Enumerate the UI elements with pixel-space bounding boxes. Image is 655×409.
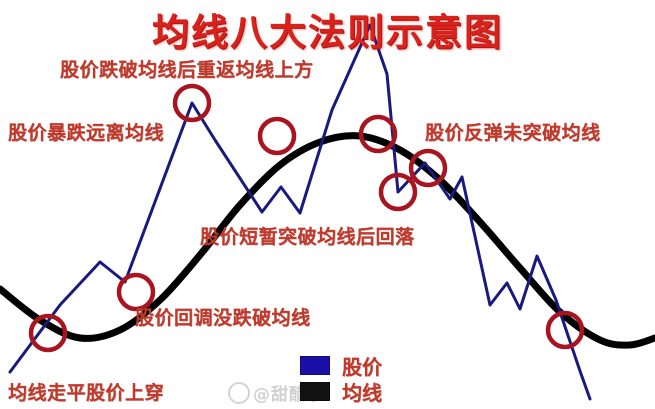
black-square-icon [300, 382, 330, 401]
legend-item-price: 股价 [300, 352, 382, 378]
annotation-crash-far-from-ma: 股价暴跌远离均线 [8, 118, 164, 145]
cross-marker-circle: 股价短暂突破均线后回落 [260, 119, 294, 153]
legend-label-ma: 均线 [342, 377, 382, 406]
diagram-canvas: 均线走平股价上穿股价回调没跌破均线股价跌破均线后重返均线上方股价短暂突破均线后回… [0, 0, 655, 409]
page-title: 均线八大法则示意图 [0, 2, 655, 56]
blue-square-icon [300, 356, 330, 375]
annotation-flat-ma-price-crosses-up: 均线走平股价上穿 [8, 378, 164, 405]
legend-item-ma: 均线 [300, 378, 382, 404]
chart-legend: 股价 均线 [300, 352, 382, 404]
legend-label-price: 股价 [342, 351, 382, 380]
annotation-brief-break-then-fall: 股价短暂突破均线后回落 [200, 222, 415, 249]
annotation-pullback-holds-ma: 股价回调没跌破均线 [135, 303, 311, 330]
annotation-break-return: 股价跌破均线后重返均线上方 [60, 55, 314, 82]
annotation-rebound-fails-ma: 股价反弹未突破均线 [425, 118, 601, 145]
